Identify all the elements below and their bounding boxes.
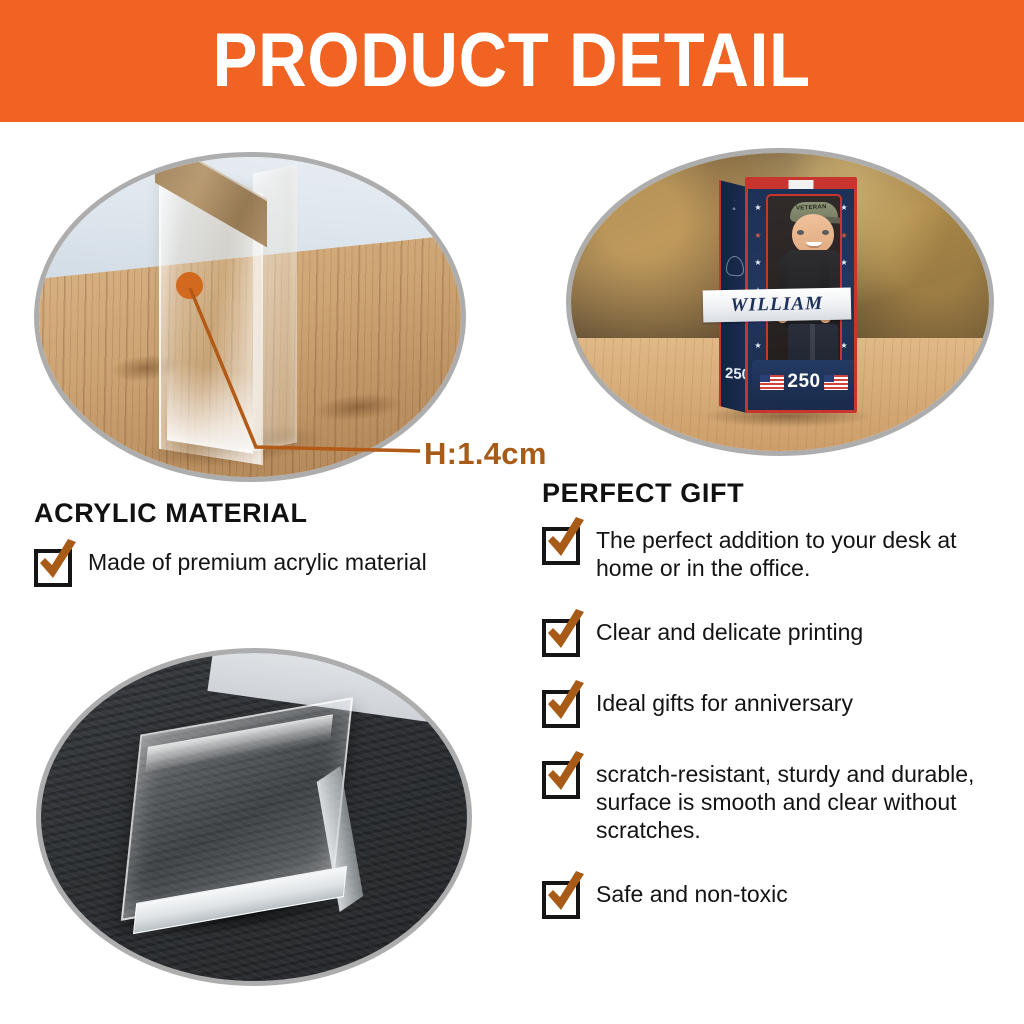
- name-ribbon-banner: WILLIAM: [703, 287, 852, 322]
- check-tick-icon: [544, 680, 588, 728]
- checkmark-icon: [542, 523, 580, 561]
- list-item: Ideal gifts for anniversary: [542, 683, 1012, 724]
- feature-list-perfect-gift: The perfect addition to your desk at hom…: [542, 520, 1012, 945]
- badge-number: 250: [787, 371, 820, 393]
- list-item-label: scratch-resistant, sturdy and durable, s…: [596, 754, 1012, 844]
- list-item-label: Made of premium acrylic material: [88, 542, 427, 576]
- page-title: PRODUCT DETAIL: [213, 23, 811, 99]
- firework-icon: [725, 199, 743, 218]
- list-item: The perfect addition to your desk at hom…: [542, 520, 1012, 582]
- feature-list-acrylic-material: Made of premium acrylic material: [34, 542, 524, 605]
- photo-acrylic-block: [36, 648, 472, 986]
- personalized-name: WILLIAM: [730, 293, 823, 317]
- list-item-label: Ideal gifts for anniversary: [596, 683, 853, 717]
- list-item: scratch-resistant, sturdy and durable, s…: [542, 754, 1012, 844]
- figure-head: [792, 214, 834, 254]
- box-side-badge: 250: [725, 365, 747, 384]
- list-item: Safe and non-toxic: [542, 874, 1012, 915]
- annotation-dot-icon: [176, 272, 203, 299]
- list-item-label: The perfect addition to your desk at hom…: [596, 520, 1012, 582]
- list-item-label: Safe and non-toxic: [596, 874, 788, 908]
- photo-acrylic-edge: [34, 152, 466, 482]
- cap-text: VETERAN: [796, 204, 827, 212]
- checkmark-icon: [542, 877, 580, 915]
- list-item: Made of premium acrylic material: [34, 542, 524, 583]
- liberty-bell-icon: [726, 255, 744, 276]
- us-flag-icon: [760, 375, 784, 390]
- check-tick-icon: [544, 609, 588, 657]
- header-banner: PRODUCT DETAIL: [0, 0, 1024, 122]
- section-heading-acrylic-material: ACRYLIC MATERIAL: [34, 498, 308, 529]
- acrylic-highlight: [167, 360, 253, 454]
- photo-gift-box: 250 ★★★★•★★ ★★★★•★★ VETERAN: [566, 148, 994, 456]
- checkmark-icon: [542, 686, 580, 724]
- figure-mouth: [806, 242, 822, 248]
- check-tick-icon: [544, 517, 588, 565]
- wood-knot: [312, 390, 404, 425]
- us-flag-icon: [824, 375, 848, 390]
- list-item: Clear and delicate printing: [542, 612, 1012, 653]
- check-tick-icon: [544, 751, 588, 799]
- checkmark-icon: [542, 615, 580, 653]
- list-item-label: Clear and delicate printing: [596, 612, 863, 646]
- check-tick-icon: [36, 539, 80, 587]
- check-tick-icon: [544, 871, 588, 919]
- checkmark-icon: [542, 757, 580, 795]
- box-top-stripe: [748, 180, 854, 189]
- box-footer-badge: 250: [752, 360, 856, 404]
- dimension-label: H:1.4cm: [424, 436, 547, 472]
- checkmark-icon: [34, 545, 72, 583]
- section-heading-perfect-gift: PERFECT GIFT: [542, 478, 744, 509]
